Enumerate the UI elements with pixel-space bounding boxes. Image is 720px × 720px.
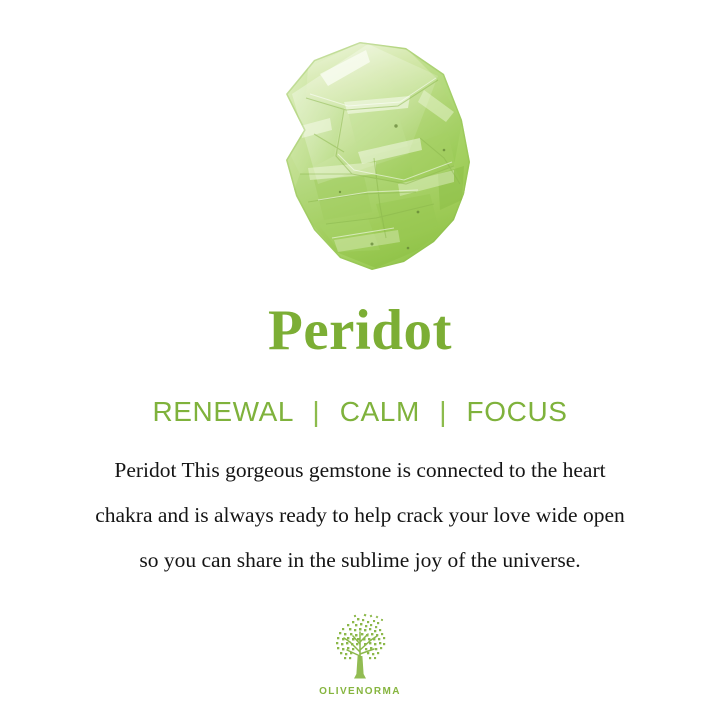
description-line-3: so you can share in the sublime joy of t…: [22, 538, 698, 583]
keyword-focus: FOCUS: [467, 396, 568, 427]
keyword-line: RENEWAL | CALM | FOCUS: [0, 396, 720, 428]
gemstone-image-stage: [0, 34, 720, 284]
page-title: Peridot: [0, 300, 720, 362]
peridot-crystal-svg: [248, 34, 494, 282]
brand-logo: OLIVENORMA: [0, 612, 720, 698]
keyword-separator-2: |: [428, 396, 458, 428]
brand-wordmark: OLIVENORMA: [0, 686, 720, 698]
peridot-crystal-image: [248, 34, 494, 282]
peridot-product-card: Peridot RENEWAL | CALM | FOCUS Peridot T…: [0, 0, 720, 720]
keyword-renewal: RENEWAL: [152, 396, 293, 427]
description-line-1: Peridot This gorgeous gemstone is connec…: [22, 448, 698, 493]
tree-icon: [321, 612, 399, 684]
keyword-calm: CALM: [340, 396, 420, 427]
description-line-2: chakra and is always ready to help crack…: [22, 493, 698, 538]
keyword-separator-1: |: [301, 396, 331, 428]
description-text: Peridot This gorgeous gemstone is connec…: [22, 448, 698, 583]
